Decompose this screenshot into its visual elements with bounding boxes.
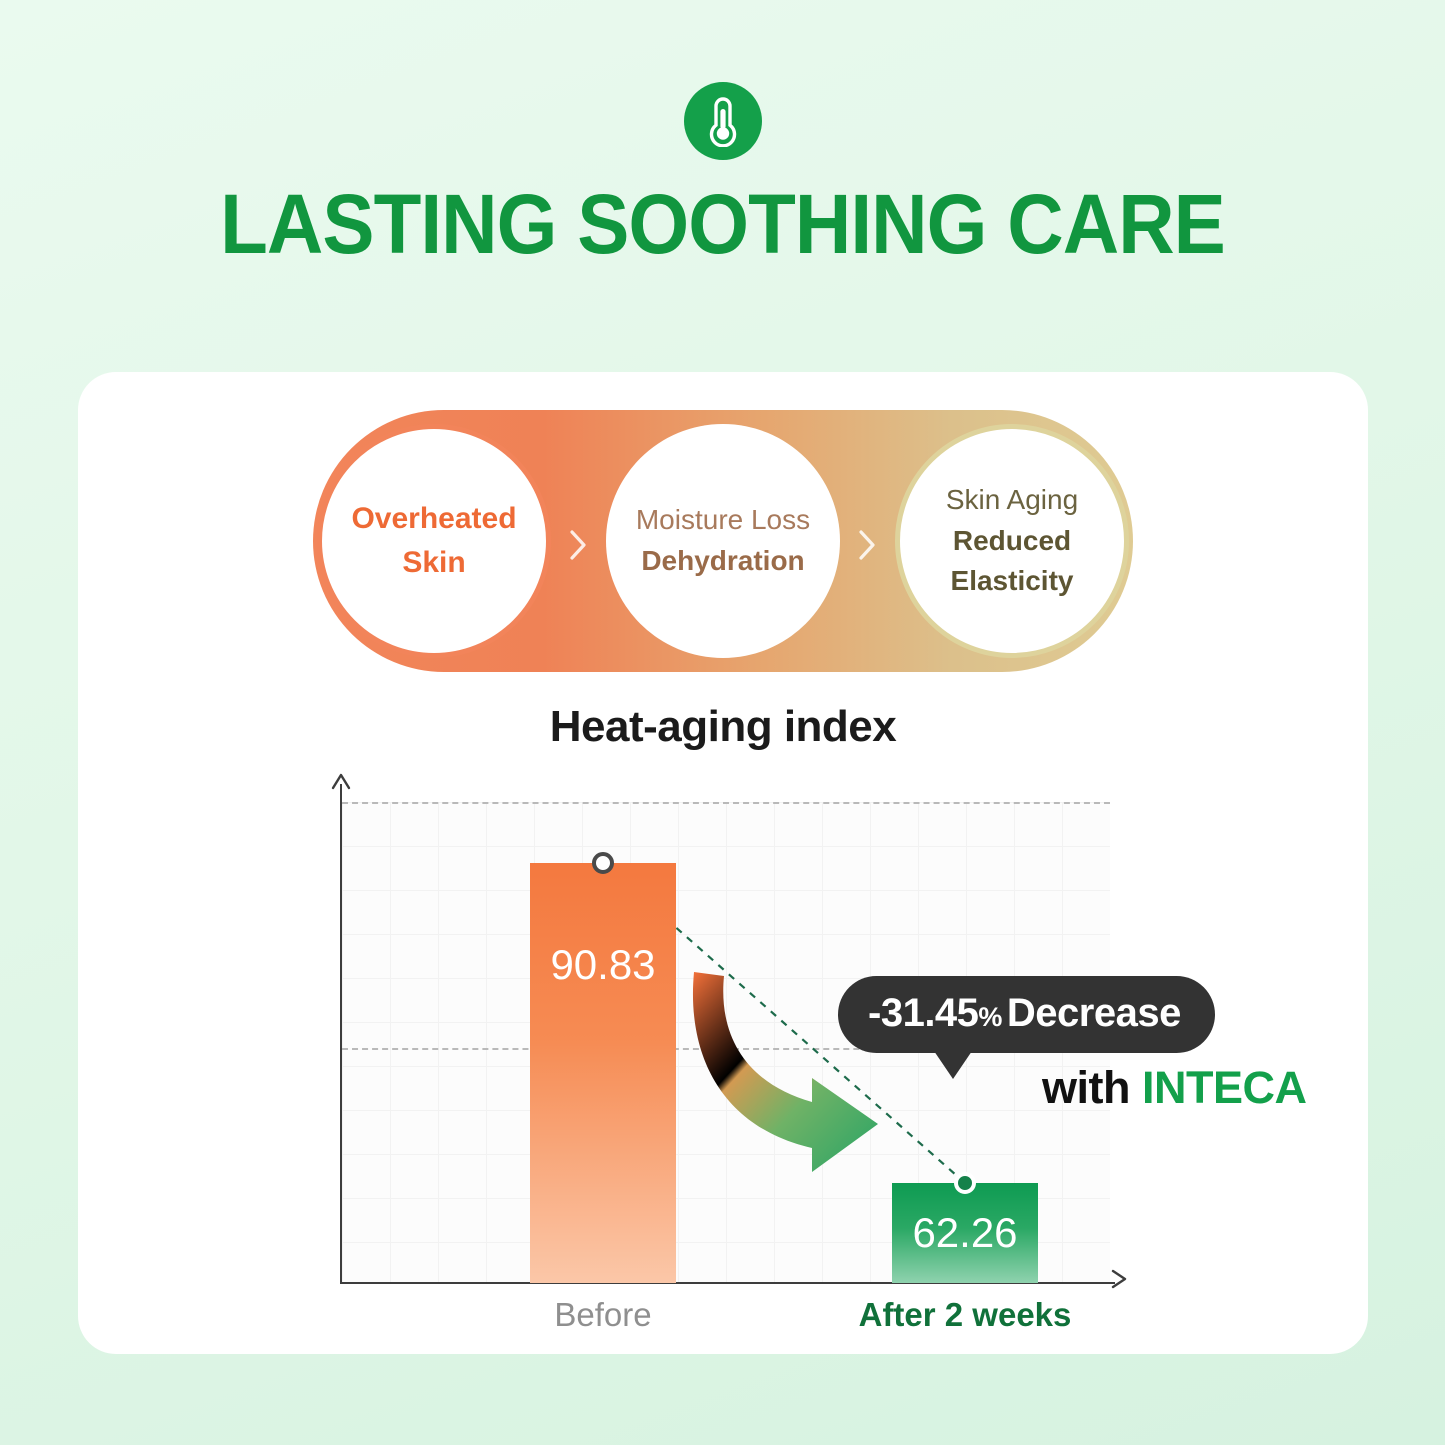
decrease-word: Decrease: [1007, 991, 1181, 1035]
data-point-after: [954, 1172, 976, 1194]
with-word: with: [1042, 1062, 1130, 1113]
flow-step-moisture-loss: Moisture Loss Dehydration: [606, 424, 840, 658]
decrease-value: -31.45: [868, 991, 978, 1035]
reference-line-top: [342, 802, 1110, 804]
content-card: Overheated Skin Moisture Loss Dehydratio…: [78, 372, 1368, 1354]
flow-step-3-line3: Elasticity: [951, 561, 1074, 602]
data-point-before: [592, 852, 614, 874]
x-axis-label-before: Before: [473, 1296, 733, 1334]
y-axis-arrow-icon: [330, 772, 352, 795]
flow-step-2-line2: Dehydration: [641, 541, 804, 582]
flow-step-3-line1: Skin Aging: [946, 480, 1078, 521]
heat-aging-bar-chart: 90.83 62.26: [330, 784, 1110, 1284]
flow-step-3-line2: Reduced: [953, 521, 1071, 562]
bar-before: 90.83: [530, 863, 676, 1283]
x-axis-arrow-icon: [1110, 1268, 1128, 1295]
bar-before-value: 90.83: [530, 941, 676, 989]
bar-after-value: 62.26: [892, 1209, 1038, 1257]
flow-step-1-line1: Overheated: [351, 497, 516, 541]
page-title: LASTING SOOTHING CARE: [51, 182, 1395, 266]
bar-after: 62.26: [892, 1183, 1038, 1283]
flow-step-skin-aging: Skin Aging Reduced Elasticity: [895, 424, 1129, 658]
flow-step-1-line2: Skin: [402, 541, 465, 585]
skin-damage-flow: Overheated Skin Moisture Loss Dehydratio…: [313, 410, 1133, 672]
decrease-badge: -31.45% Decrease: [838, 976, 1215, 1053]
x-axis-label-after: After 2 weeks: [835, 1296, 1095, 1334]
decrease-unit: %: [978, 1002, 1002, 1032]
brand-caption: with INTECA: [1042, 1062, 1307, 1114]
page-header: LASTING SOOTHING CARE: [0, 0, 1445, 266]
flow-step-overheated-skin: Overheated Skin: [317, 424, 551, 658]
brand-name: INTECA: [1142, 1062, 1307, 1113]
flow-step-2-line1: Moisture Loss: [636, 500, 810, 541]
chevron-right-icon: [565, 528, 591, 562]
y-axis: [340, 784, 342, 1284]
badge-pointer: [934, 1051, 972, 1079]
chevron-right-icon: [854, 528, 880, 562]
chart-title: Heat-aging index: [78, 702, 1368, 752]
thermometer-icon: [684, 82, 762, 160]
